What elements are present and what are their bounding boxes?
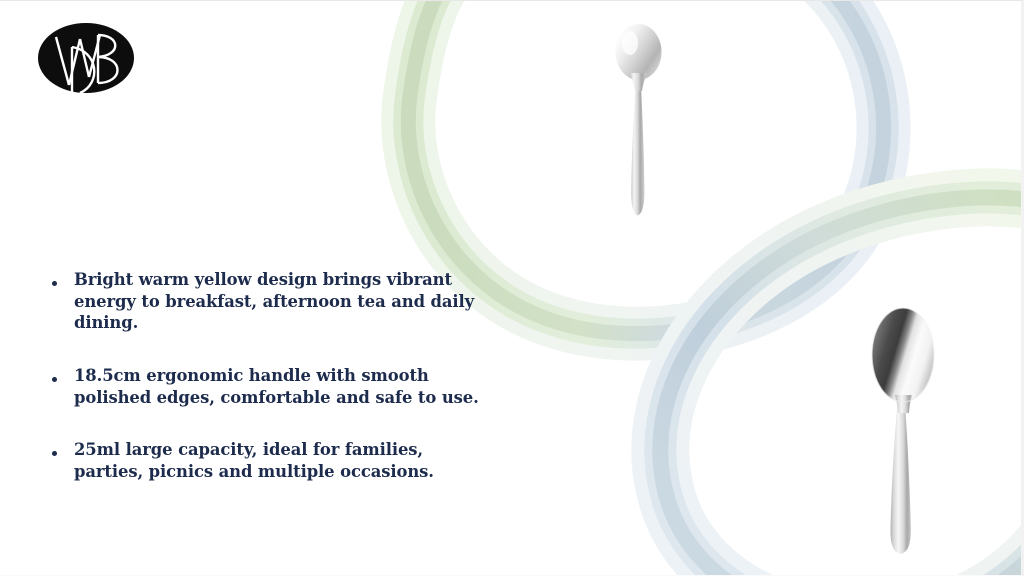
feature-bullet-list: Bright warm yellow design brings vibrant… — [52, 269, 532, 483]
brand-logo[interactable] — [36, 17, 136, 101]
logo-ellipse-shape — [38, 23, 134, 93]
swirl-loop-lower — [660, 197, 1024, 576]
bullet-dot-icon — [52, 281, 57, 286]
bullet-text: 18.5cm ergonomic handle with smooth poli… — [74, 365, 479, 408]
bullet-dot-icon — [52, 377, 57, 382]
bullet-text: 25ml large capacity, ideal for families,… — [74, 439, 434, 482]
list-item: 18.5cm ergonomic handle with smooth poli… — [52, 365, 532, 408]
slide-canvas: Bright warm yellow design brings vibrant… — [0, 0, 1024, 576]
list-item: 25ml large capacity, ideal for families,… — [52, 439, 532, 482]
list-item: Bright warm yellow design brings vibrant… — [52, 269, 532, 334]
bullet-text: Bright warm yellow design brings vibrant… — [74, 269, 474, 334]
spoon-top-image — [608, 19, 672, 221]
bullet-dot-icon — [52, 451, 57, 456]
spoon-bottom-right-image — [862, 301, 948, 559]
